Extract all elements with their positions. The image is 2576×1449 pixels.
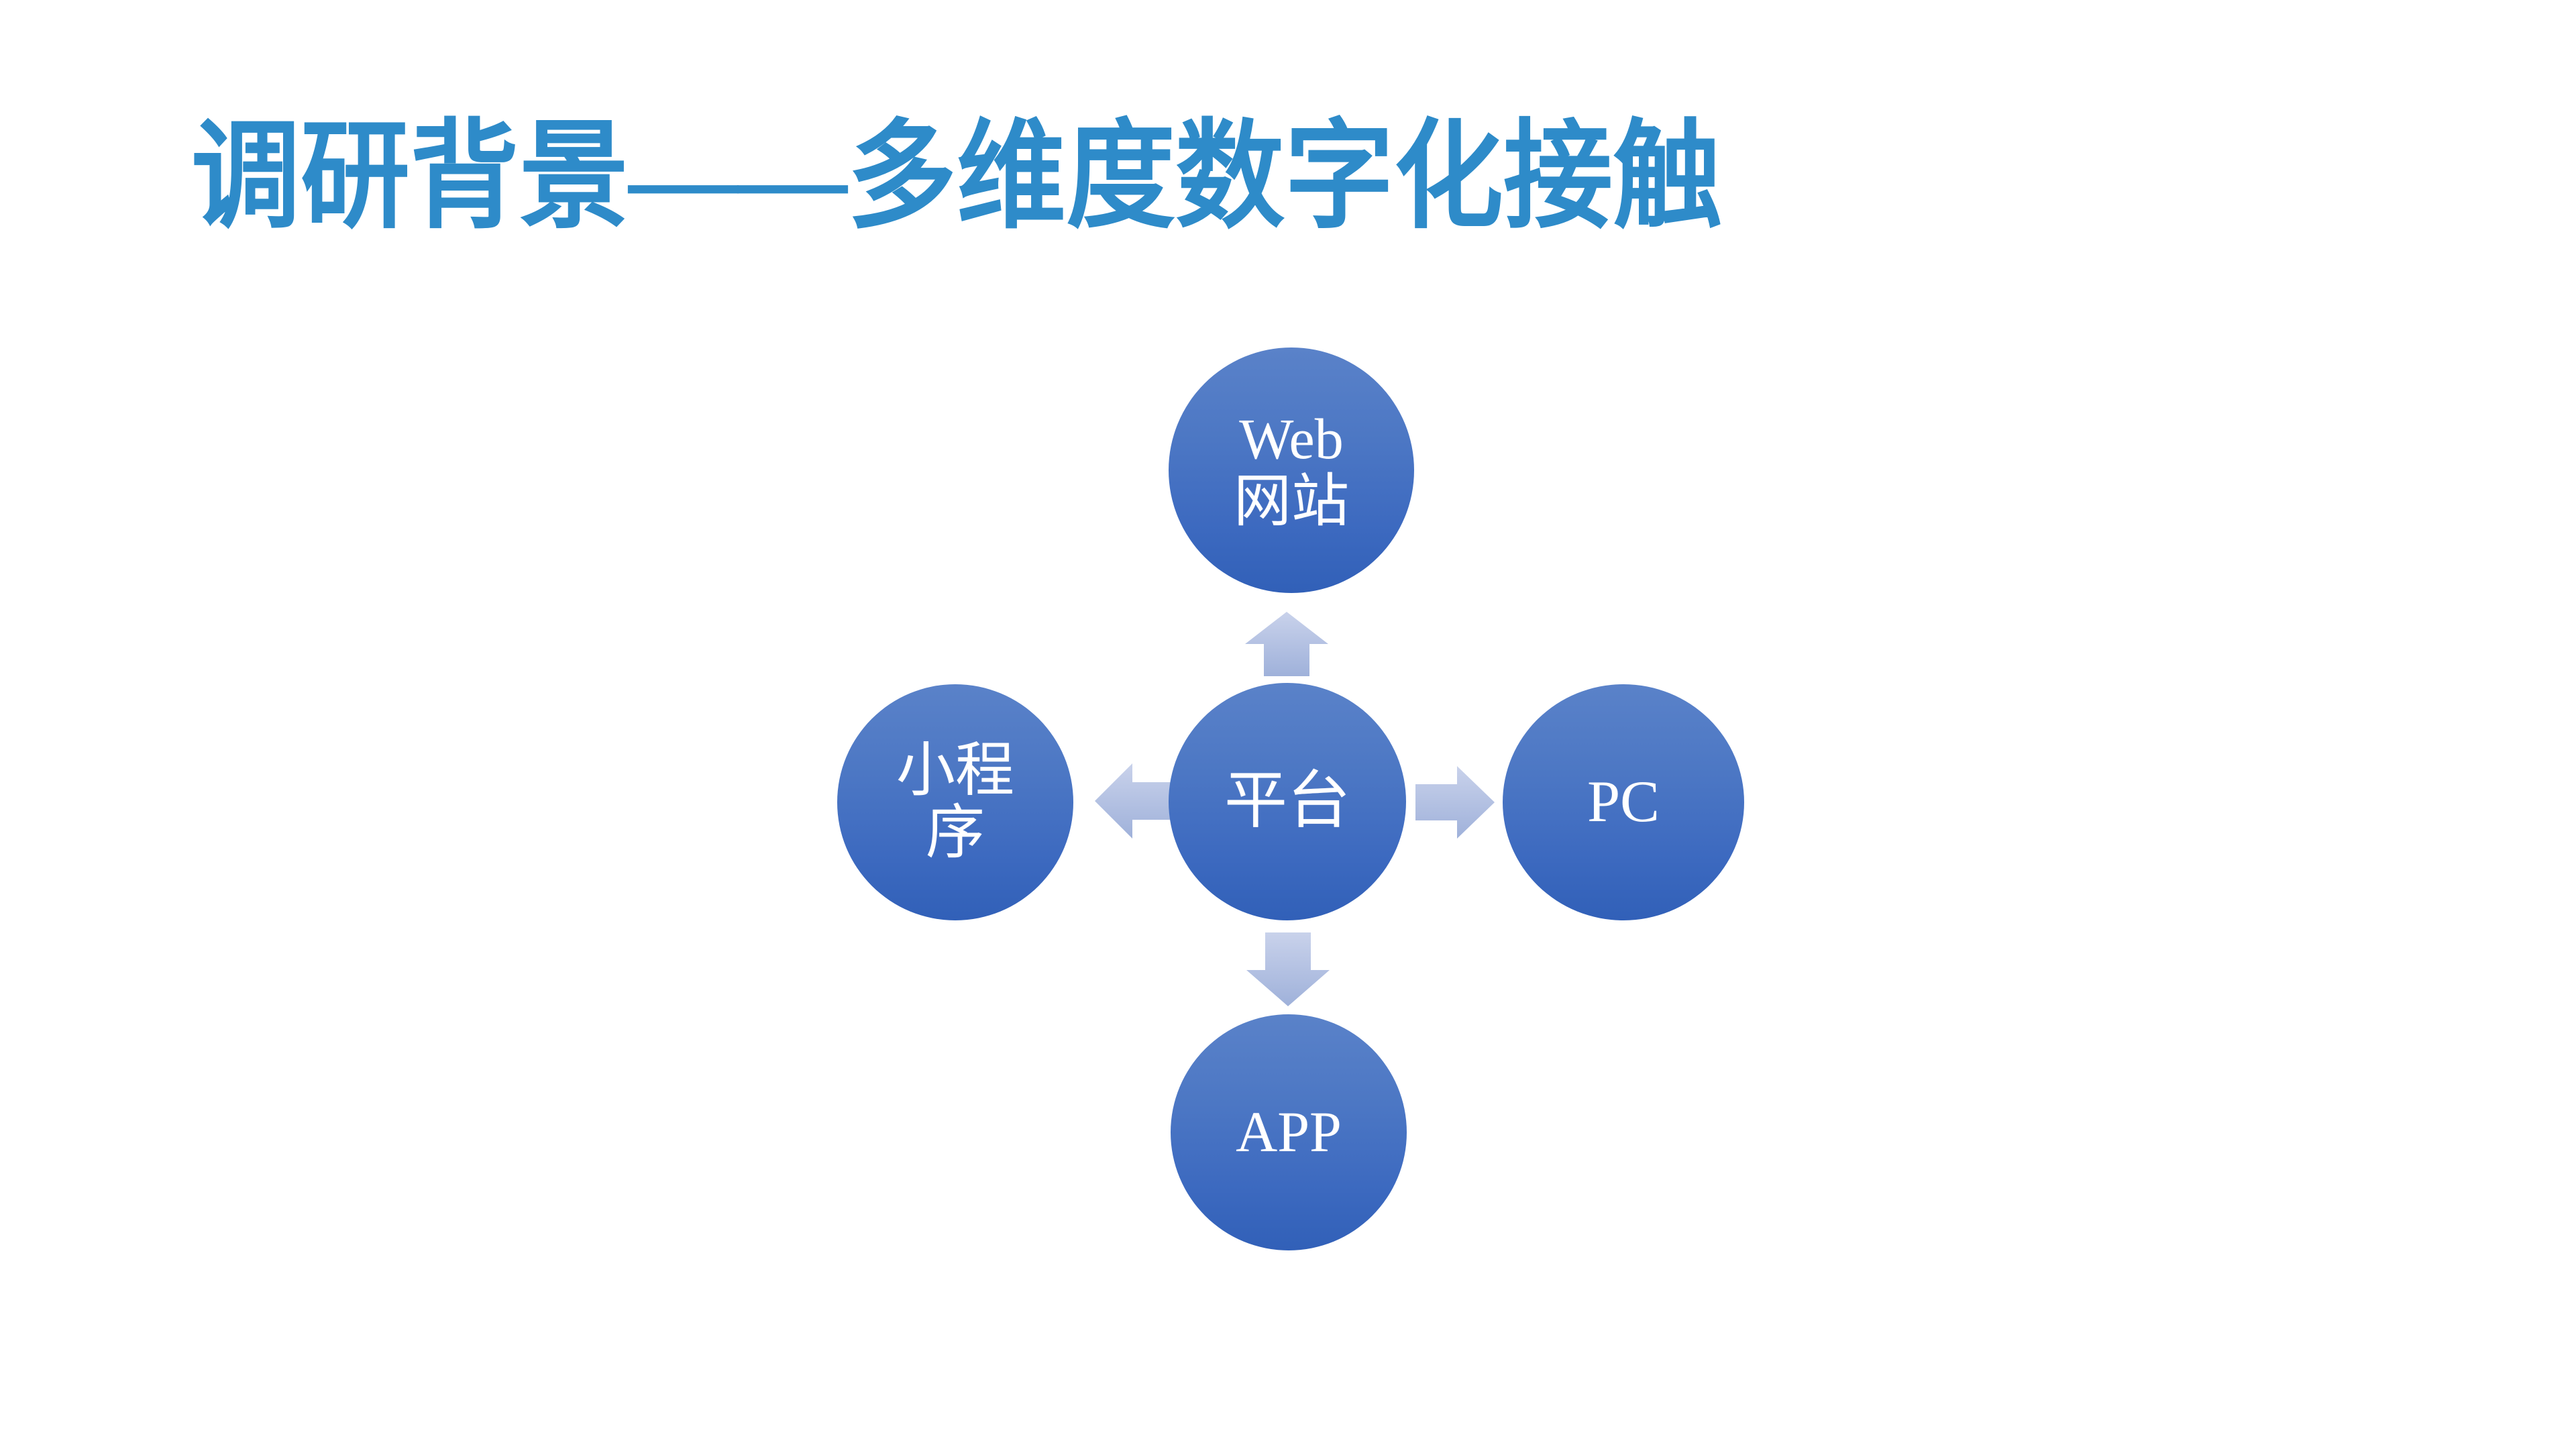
node-miniprogram-label-line2: 序 <box>896 802 1014 865</box>
node-app[interactable]: APP <box>1171 1014 1407 1250</box>
arrow-up-icon <box>1245 612 1328 676</box>
node-web-label-line1: Web <box>1234 408 1349 470</box>
node-app-label: APP <box>1230 1102 1347 1163</box>
node-miniprogram-label-line1: 小程 <box>896 740 1014 802</box>
node-platform-label-line1: 平台 <box>1224 768 1350 835</box>
node-platform-label: 平台 <box>1219 768 1356 835</box>
arrow-right-shape <box>1415 766 1495 839</box>
node-miniprogram[interactable]: 小程 序 <box>837 684 1073 920</box>
node-pc-label: PC <box>1582 771 1665 833</box>
hub-and-spoke-diagram: Web 网站 小程 序 平台 <box>0 0 2576 1449</box>
arrow-down-icon <box>1246 932 1330 1006</box>
slide-canvas: 调研背景——多维度数字化接触 Web 网站 <box>0 0 2576 1449</box>
arrow-right-icon <box>1415 766 1495 839</box>
arrow-left-icon <box>1095 763 1174 839</box>
node-pc-label-line1: PC <box>1587 771 1660 833</box>
node-web-label-line2: 网站 <box>1234 470 1349 533</box>
node-web-label: Web 网站 <box>1228 408 1354 533</box>
node-app-label-line1: APP <box>1236 1102 1342 1163</box>
arrow-up-shape <box>1245 612 1328 676</box>
node-miniprogram-label: 小程 序 <box>891 740 1020 865</box>
node-platform[interactable]: 平台 <box>1169 683 1406 920</box>
arrow-left-shape <box>1095 763 1174 839</box>
node-pc[interactable]: PC <box>1503 684 1744 920</box>
arrow-down-shape <box>1246 932 1330 1006</box>
node-web[interactable]: Web 网站 <box>1169 347 1414 593</box>
